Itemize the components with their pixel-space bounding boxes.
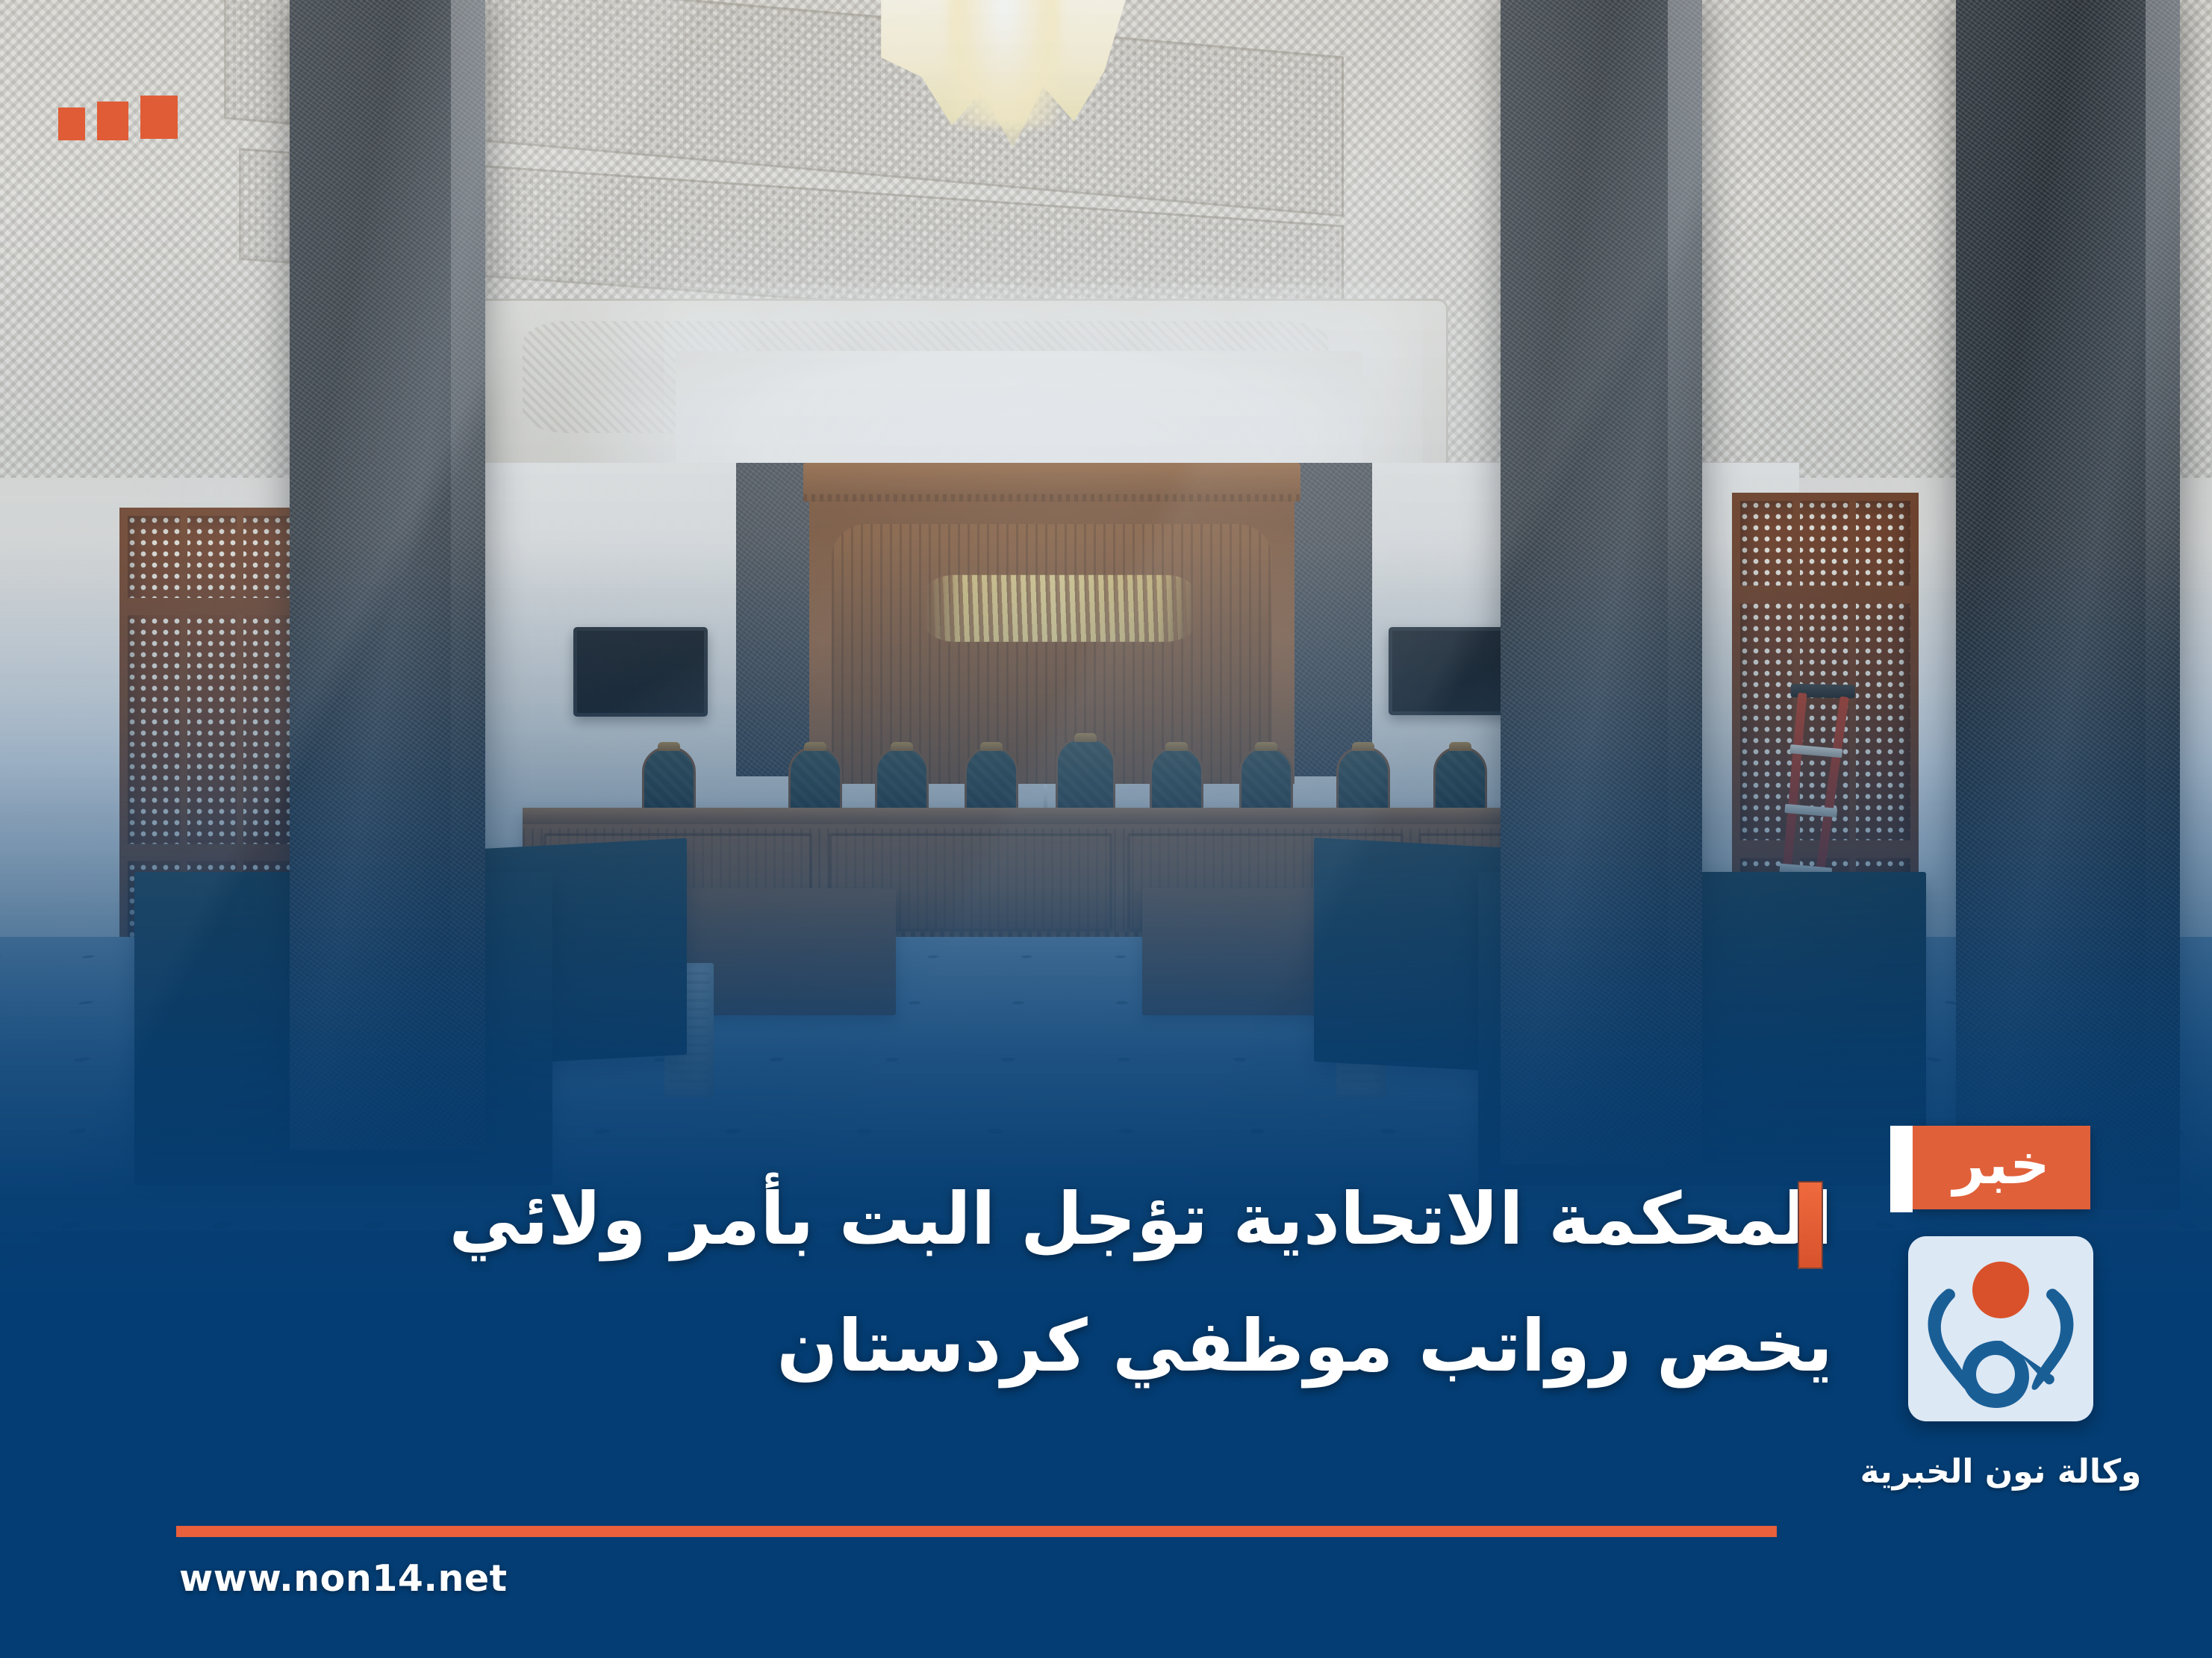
judge-chair — [965, 747, 1018, 815]
headline-line-2: يخص رواتب موظفي كردستان — [332, 1288, 1833, 1405]
headline-line-1: المحكمة الاتحادية تؤجل البت بأمر ولائي — [332, 1162, 1833, 1278]
news-badge-box: خبر — [1913, 1126, 2090, 1209]
judge-chair — [875, 747, 929, 815]
judge-chair — [642, 747, 696, 815]
headline-accent-bar — [1798, 1181, 1823, 1269]
judge-chair — [1239, 747, 1293, 815]
news-badge-label: خبر — [1953, 1137, 2050, 1192]
news-card: المحكمة الاتحادية تؤجل البت بأمر ولائي ي… — [0, 0, 2212, 1658]
accent-bar — [58, 107, 85, 140]
judge-chair — [788, 747, 842, 815]
column-highlight — [2146, 0, 2180, 1209]
accent-bar — [97, 102, 128, 140]
corner-accent-bars — [58, 96, 178, 140]
headline: المحكمة الاتحادية تؤجل البت بأمر ولائي ي… — [332, 1162, 1833, 1404]
courtroom-photo — [0, 0, 2212, 1658]
agency-logo — [1908, 1236, 2093, 1421]
accent-bar — [140, 96, 178, 139]
chief-judge-chair — [1056, 738, 1115, 815]
wall-monitor-left — [573, 627, 708, 717]
granite-column — [290, 0, 485, 1150]
noon-logo-icon — [1908, 1236, 2093, 1421]
judge-chair — [1433, 747, 1487, 815]
stone-panel-right — [1283, 463, 1372, 776]
agency-name: وكالة نون الخبرية — [1836, 1453, 2165, 1491]
granite-column — [1956, 0, 2180, 1209]
judge-chair — [1150, 747, 1203, 815]
column-highlight — [451, 0, 485, 1150]
granite-column — [1501, 0, 1702, 1165]
website-url: www.non14.net — [179, 1557, 508, 1600]
column-highlight — [1668, 0, 1702, 1165]
wall-calligraphy — [926, 575, 1194, 642]
news-badge: خبر — [1890, 1126, 2090, 1212]
footer-divider — [176, 1526, 1777, 1537]
judge-chair — [1336, 747, 1390, 815]
chandelier-glow — [948, 0, 1060, 127]
wooden-cornice — [803, 463, 1300, 502]
news-badge-tab — [1890, 1126, 1913, 1212]
